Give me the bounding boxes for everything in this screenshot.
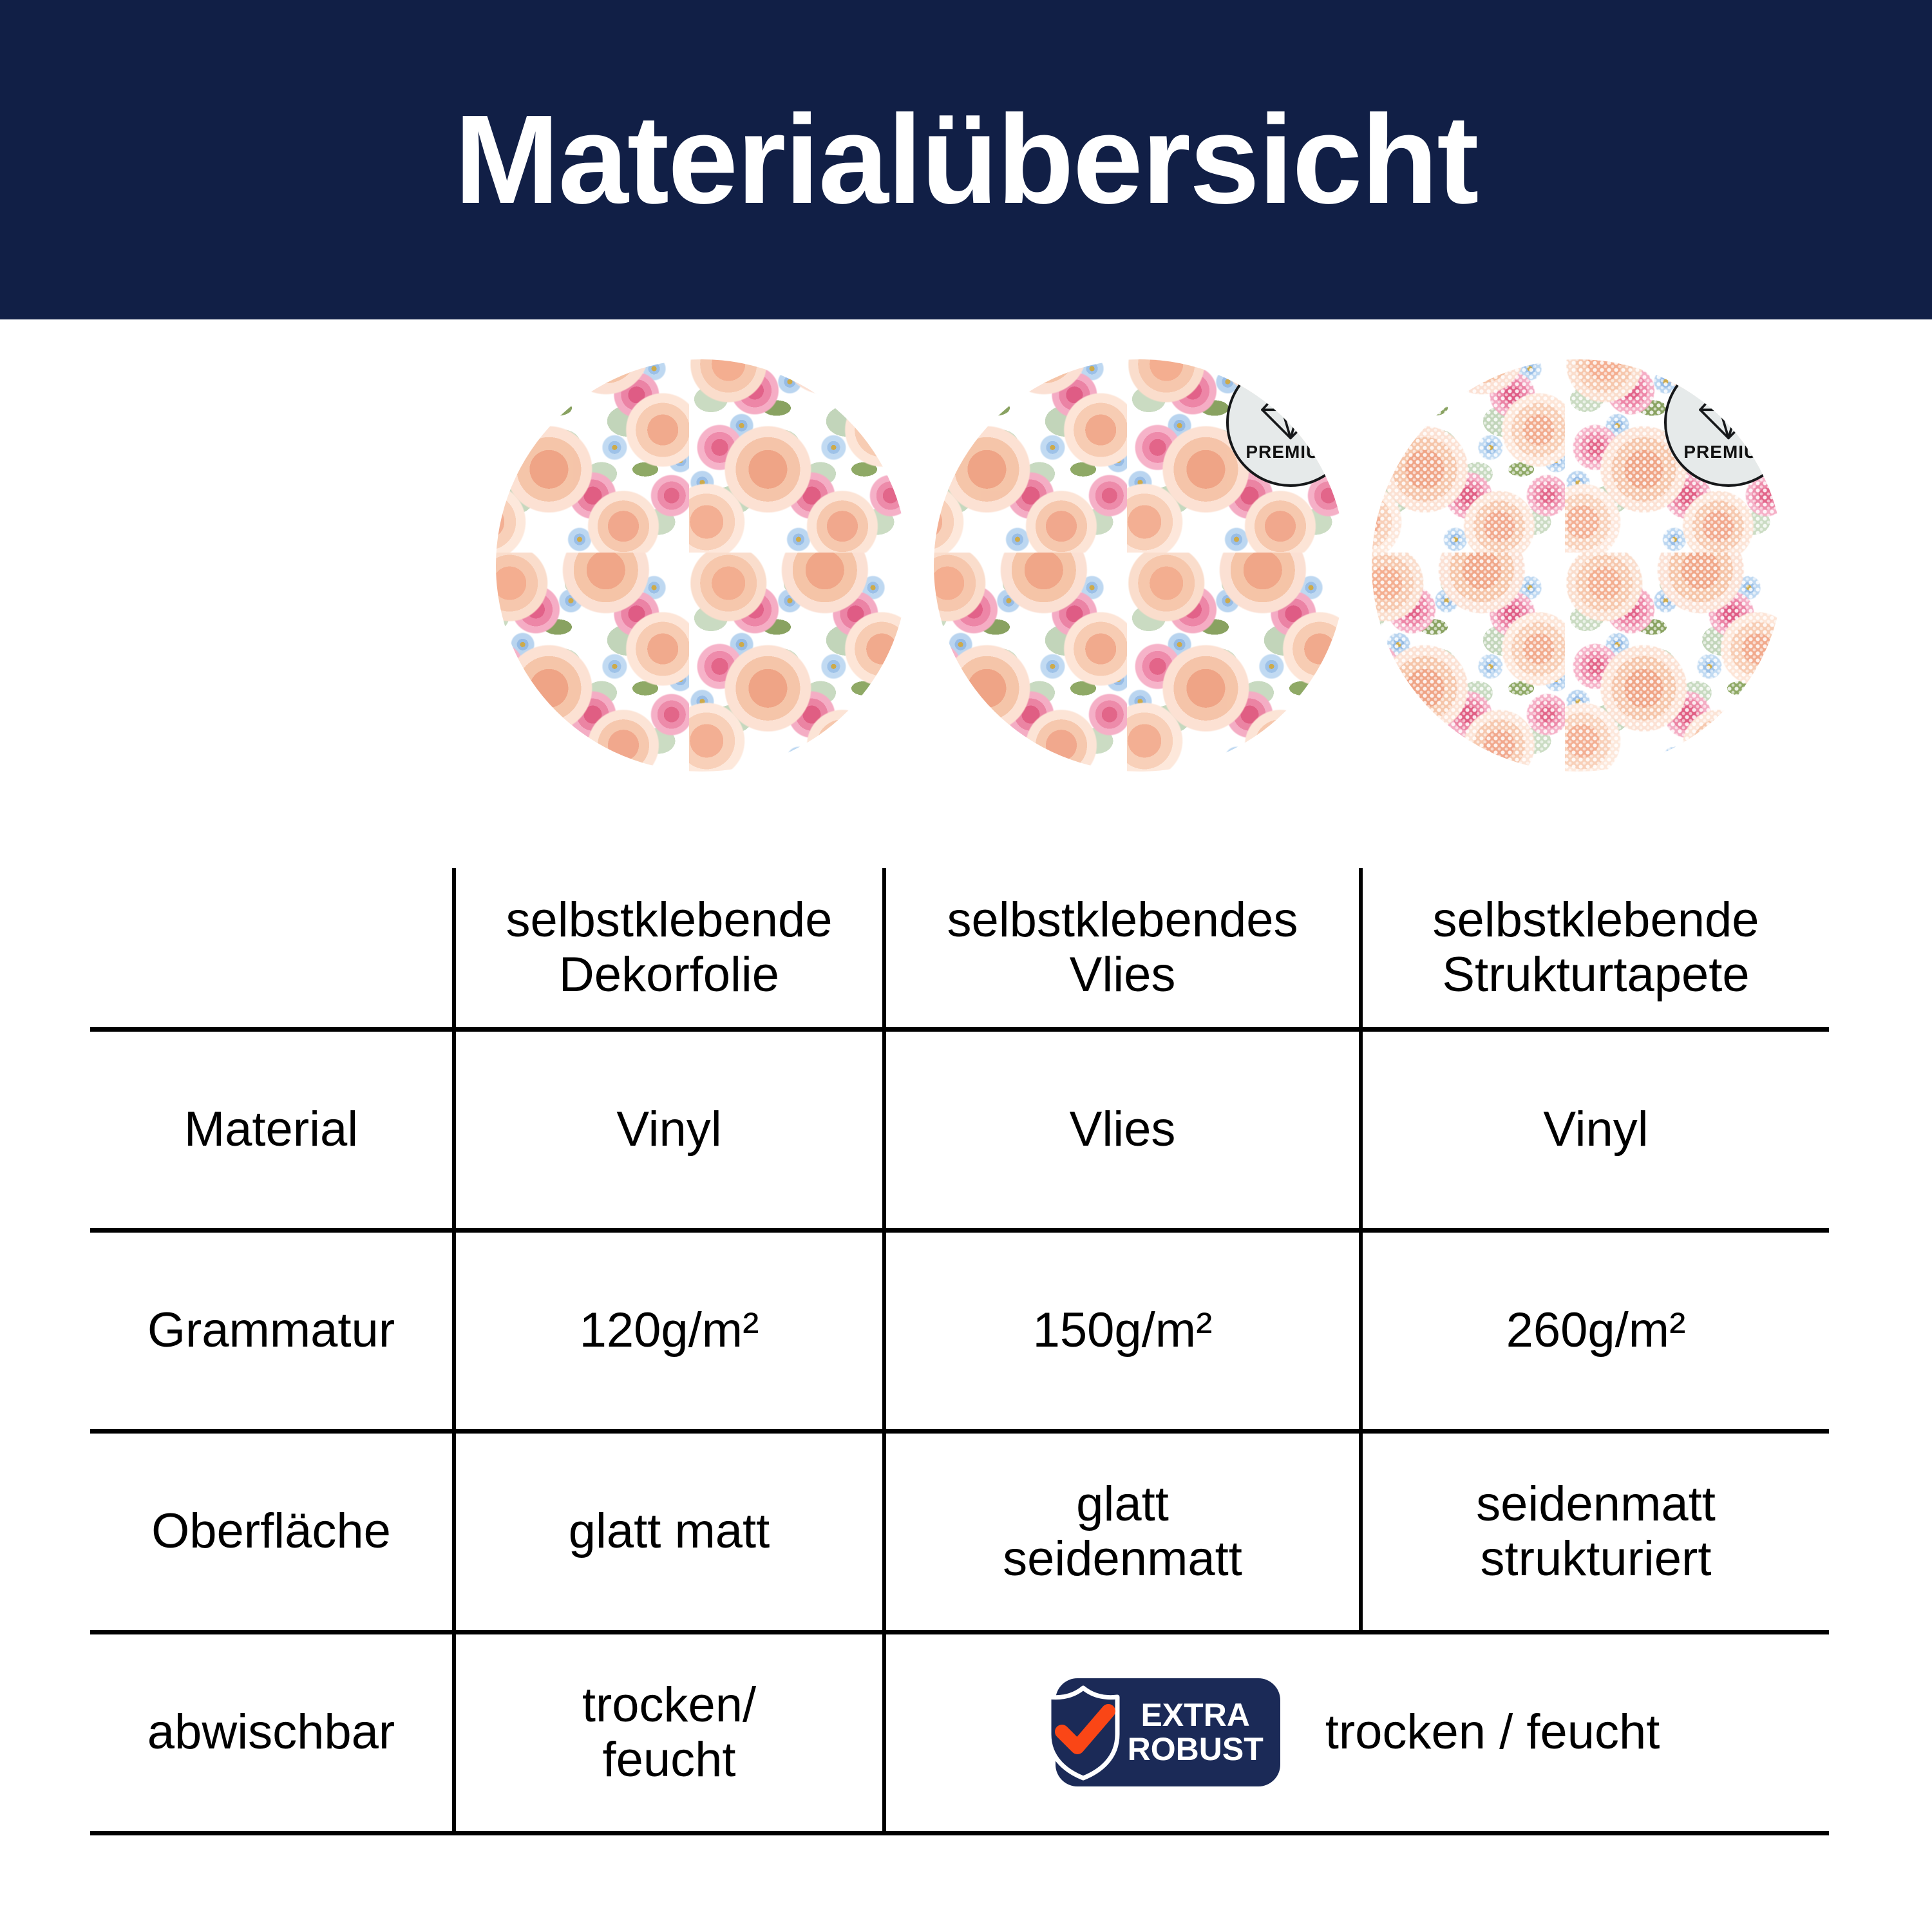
cell-abwischbar-vlies-strukturtapete: EXTRA ROBUST trocken / feucht — [884, 1632, 1829, 1833]
column-header-line1: selbstklebende — [1373, 893, 1819, 947]
premium-label: PREMIUM — [1683, 443, 1773, 461]
table-row-material: Material Vinyl Vlies Vinyl — [90, 1029, 1829, 1230]
swatch-strukturtapete: PREMIUM — [1372, 359, 1784, 772]
cell-material-dekorfolie: Vinyl — [454, 1029, 884, 1230]
table-row-abwischbar: abwischbar trocken/ feucht — [90, 1632, 1829, 1833]
cell-line1: seidenmatt — [1373, 1477, 1819, 1531]
cell-abwischbar-dekorfolie: trocken/ feucht — [454, 1632, 884, 1833]
premium-badge: PREMIUM — [1664, 359, 1784, 487]
robust-line1: EXTRA — [1128, 1698, 1264, 1732]
shield-check-icon — [1041, 1684, 1125, 1781]
material-spec-table: selbstklebende Dekorfolie selbstklebende… — [90, 868, 1829, 1835]
cell-grammatur-vlies: 150g/m² — [884, 1230, 1361, 1431]
cell-line1: glatt — [896, 1477, 1349, 1531]
column-header-dekorfolie: selbstklebende Dekorfolie — [454, 868, 884, 1029]
material-swatch-row: PREMIUM PREMIUM — [0, 348, 1932, 799]
premium-badge: PREMIUM — [1226, 359, 1346, 487]
column-header-line2: Strukturtapete — [1373, 947, 1819, 1002]
table-corner-cell — [90, 868, 454, 1029]
cell-text-trocken-feucht: trocken / feucht — [1325, 1705, 1660, 1759]
table-header-row: selbstklebende Dekorfolie selbstklebende… — [90, 868, 1829, 1029]
material-overview-page: Materialübersicht PREMIUM — [0, 0, 1932, 1932]
column-header-strukturtapete: selbstklebende Strukturtapete — [1361, 868, 1829, 1029]
merged-cell-content: EXTRA ROBUST trocken / feucht — [896, 1678, 1819, 1786]
cell-line1: trocken/ — [466, 1678, 872, 1732]
cell-material-strukturtapete: Vinyl — [1361, 1029, 1829, 1230]
column-header-line2: Dekorfolie — [466, 947, 872, 1002]
swatch-vlies: PREMIUM — [934, 359, 1346, 772]
column-header-line2: Vlies — [896, 947, 1349, 1002]
header-banner: Materialübersicht — [0, 0, 1932, 319]
diamond-icon — [1693, 384, 1764, 440]
cell-oberflaeche-strukturtapete: seidenmatt strukturiert — [1361, 1431, 1829, 1632]
table-row-oberflaeche: Oberfläche glatt matt glatt seidenmatt s… — [90, 1431, 1829, 1632]
row-label-abwischbar: abwischbar — [90, 1632, 454, 1833]
cell-grammatur-strukturtapete: 260g/m² — [1361, 1230, 1829, 1431]
cell-grammatur-dekorfolie: 120g/m² — [454, 1230, 884, 1431]
row-label-oberflaeche: Oberfläche — [90, 1431, 454, 1632]
column-header-vlies: selbstklebendes Vlies — [884, 868, 1361, 1029]
cell-line1: glatt matt — [466, 1504, 872, 1558]
table-head: selbstklebende Dekorfolie selbstklebende… — [90, 868, 1829, 1029]
row-label-grammatur: Grammatur — [90, 1230, 454, 1431]
swatch-dekorfolie — [496, 359, 908, 772]
diamond-icon — [1255, 384, 1326, 440]
robust-text: EXTRA ROBUST — [1128, 1698, 1264, 1766]
column-header-line1: selbstklebendes — [896, 893, 1349, 947]
cell-oberflaeche-vlies: glatt seidenmatt — [884, 1431, 1361, 1632]
extra-robust-badge: EXTRA ROBUST — [1056, 1678, 1280, 1786]
cell-line2: feucht — [466, 1732, 872, 1787]
row-label-material: Material — [90, 1029, 454, 1230]
cell-line2: seidenmatt — [896, 1531, 1349, 1586]
cell-oberflaeche-dekorfolie: glatt matt — [454, 1431, 884, 1632]
table-row-grammatur: Grammatur 120g/m² 150g/m² 260g/m² — [90, 1230, 1829, 1431]
floral-skull-pattern — [496, 359, 908, 772]
cell-material-vlies: Vlies — [884, 1029, 1361, 1230]
table-body: Material Vinyl Vlies Vinyl Grammatur 120… — [90, 1029, 1829, 1833]
column-header-line1: selbstklebende — [466, 893, 872, 947]
robust-line2: ROBUST — [1128, 1732, 1264, 1766]
premium-label: PREMIUM — [1245, 443, 1335, 461]
cell-line2: strukturiert — [1373, 1531, 1819, 1586]
material-spec-table-wrap: selbstklebende Dekorfolie selbstklebende… — [90, 868, 1829, 1835]
page-title: Materialübersicht — [455, 97, 1478, 223]
